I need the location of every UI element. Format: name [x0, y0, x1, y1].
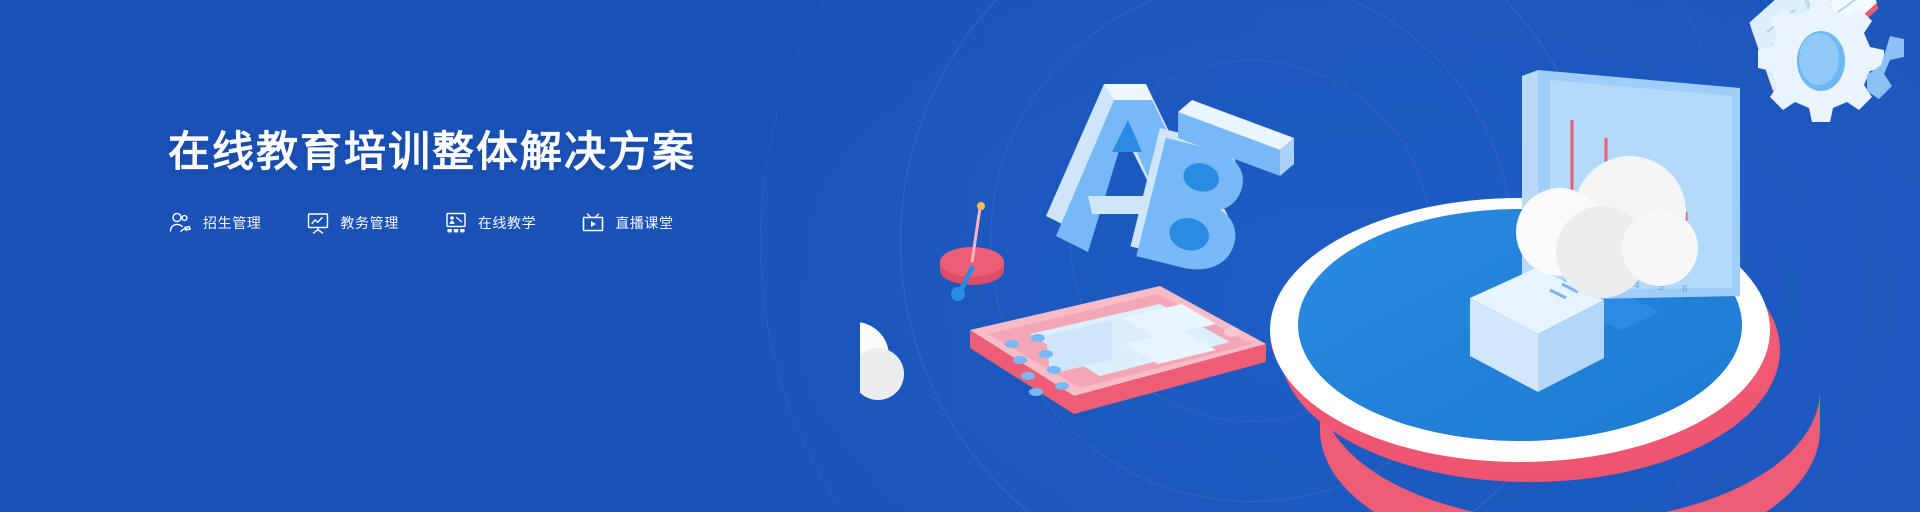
- whiteboard-icon: [443, 210, 469, 236]
- education-hero-banner: 1 2 3 4 5 6: [0, 0, 1920, 512]
- svg-text:6: 6: [1682, 284, 1688, 295]
- feature-label: 直播课堂: [615, 213, 673, 233]
- feature-label: 招生管理: [203, 213, 261, 233]
- feature-list: 招生管理 教务管理: [168, 210, 868, 236]
- user-group-icon: [168, 210, 194, 236]
- chart-board-icon: [305, 210, 331, 236]
- tablet-device: [970, 286, 1266, 414]
- page-title: 在线教育培训整体解决方案: [168, 128, 868, 176]
- education-illustration: 1 2 3 4 5 6: [860, 0, 1920, 512]
- hero-content: 在线教育培训整体解决方案 招生管理: [168, 128, 868, 236]
- feature-item-live-class[interactable]: 直播课堂: [580, 210, 673, 236]
- play-video-icon: [580, 210, 606, 236]
- feature-label: 在线教学: [478, 213, 536, 233]
- feature-item-enrollment[interactable]: 招生管理: [168, 210, 261, 236]
- gear: [1758, 0, 1904, 122]
- cloud-small: [860, 322, 904, 400]
- feature-label: 教务管理: [340, 213, 398, 233]
- feature-item-online-teaching[interactable]: 在线教学: [443, 210, 536, 236]
- feature-item-academic[interactable]: 教务管理: [305, 210, 398, 236]
- pin-marker: [940, 202, 1004, 301]
